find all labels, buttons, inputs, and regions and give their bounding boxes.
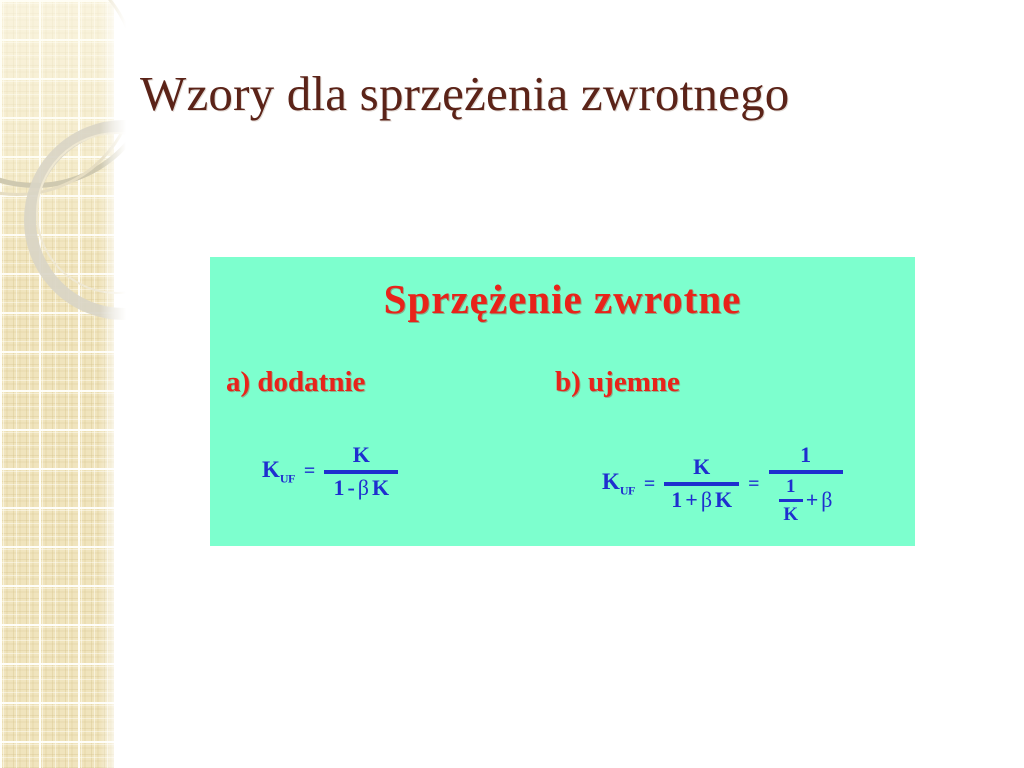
slide-canvas: Wzory dla sprzężenia zwrotnego Sprzężeni… (0, 0, 1024, 768)
image-heading: Sprzężenie zwrotne (210, 275, 915, 323)
formula-a-den-k: K (372, 476, 389, 501)
formula-b-subscript: UF (620, 484, 635, 498)
formula-b-alt-den-beta: β (821, 488, 832, 513)
formula-positive-feedback: KUF = K 1 - β K (262, 443, 398, 500)
formula-a-den-one: 1 (333, 476, 344, 501)
formula-b-den-operator: + (685, 488, 698, 513)
formula-a-numerator: K (346, 443, 377, 468)
formula-b-fraction: K 1 + β K (664, 455, 739, 512)
formula-b-lhs: KUF (602, 469, 635, 499)
formula-a-symbol: K (262, 457, 280, 482)
formula-b-numerator: K (686, 455, 717, 480)
formula-a-equals: = (304, 460, 315, 483)
decorative-sidebar (0, 0, 126, 768)
formula-b-den-beta: β (701, 488, 712, 513)
formula-b-equals: = (644, 473, 655, 496)
formula-b-nested-denominator: K (780, 504, 801, 525)
formula-a-den-beta: β (358, 476, 369, 501)
formula-b-den-one: 1 (671, 488, 682, 513)
formula-a-fraction: K 1 - β K (324, 443, 398, 500)
page-title: Wzory dla sprzężenia zwrotnego (140, 64, 960, 124)
formula-b-denominator: 1 + β K (664, 488, 739, 513)
formula-b-den-k: K (715, 488, 732, 513)
formula-b-nested-fraction: 1 K (779, 476, 803, 526)
formula-b-alt-den-operator: + (806, 488, 819, 513)
formula-b-nested-fraction-bar (779, 499, 803, 502)
formula-b-symbol: K (602, 469, 620, 494)
sidebar-edge-fade (100, 0, 126, 768)
formula-b-fraction-bar (664, 482, 739, 486)
formula-a-subscript: UF (280, 471, 295, 485)
formula-b-alt-fraction: 1 1 K + β (769, 443, 843, 525)
formula-b-alt-numerator: 1 (793, 443, 818, 468)
formula-b-equals-2: = (748, 473, 759, 496)
formula-a-fraction-bar (324, 470, 398, 474)
formula-negative-feedback: KUF = K 1 + β K = 1 1 (602, 443, 843, 525)
formula-b-alt-denominator: 1 K + β (772, 476, 840, 526)
case-b-label: b) ujemne (555, 365, 680, 399)
formula-a-den-operator: - (347, 476, 354, 501)
embedded-formula-image: Sprzężenie zwrotne a) dodatnie b) ujemne… (210, 257, 915, 546)
formula-b-nested-numerator: 1 (783, 476, 799, 497)
formula-a-denominator: 1 - β K (326, 476, 396, 501)
case-a-label: a) dodatnie (226, 365, 365, 399)
formula-a-lhs: KUF (262, 457, 295, 487)
formula-b-alt-fraction-bar (769, 470, 843, 474)
